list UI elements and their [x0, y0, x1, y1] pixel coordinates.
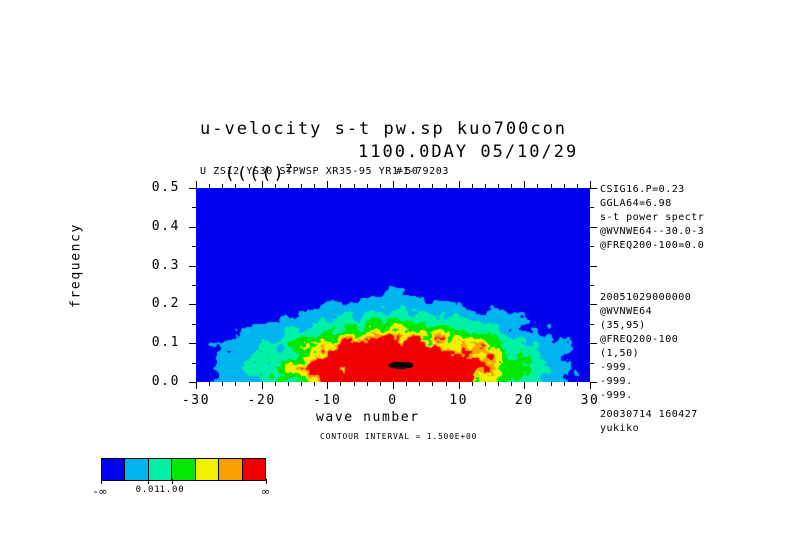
colorbar-cell — [195, 459, 218, 480]
x-axis-minor-tick-top — [380, 184, 381, 188]
x-axis-tick-label: 10 — [432, 393, 486, 408]
x-axis-minor-tick — [380, 382, 381, 386]
annotation-top-line: @FREQ200-100=0.0 — [600, 240, 704, 251]
y-axis-tick-label: 0.5 — [134, 180, 180, 195]
x-axis-minor-tick — [485, 382, 486, 386]
y-axis-minor-tick-right — [590, 207, 594, 208]
x-axis-minor-tick-top — [288, 184, 289, 188]
x-axis-minor-tick — [446, 382, 447, 386]
colorbar-cell — [242, 459, 265, 480]
x-axis-minor-tick-top — [472, 184, 473, 188]
x-axis-minor-tick — [209, 382, 210, 386]
x-axis-major-tick — [393, 382, 394, 389]
y-axis-minor-tick — [192, 363, 196, 364]
y-axis-minor-tick-right — [590, 285, 594, 286]
x-axis-minor-tick — [564, 382, 565, 386]
x-axis-minor-tick — [406, 382, 407, 386]
plot-description: U ZS12 YS30 STPWSP XR35-95 YR1-50 — [200, 166, 418, 177]
y-axis-minor-tick — [192, 246, 196, 247]
y-axis-major-tick — [189, 304, 196, 305]
annotation-mid-line: -999. — [600, 390, 633, 401]
colorbar-cell — [124, 459, 147, 480]
contour-interval-note: CONTOUR INTERVAL = 1.500E+00 — [320, 432, 477, 441]
x-axis-minor-tick-top — [551, 184, 552, 188]
colorbar-cell — [148, 459, 171, 480]
y-axis-minor-tick — [192, 207, 196, 208]
x-axis-minor-tick-top — [537, 184, 538, 188]
x-axis-minor-tick-top — [275, 184, 276, 188]
x-axis-minor-tick-top — [498, 184, 499, 188]
annotation-mid-line: -999. — [600, 362, 633, 373]
y-axis-major-tick-right — [590, 343, 597, 344]
x-axis-tick-label: -10 — [300, 393, 354, 408]
colorbar-label: 1.00 — [147, 485, 197, 495]
x-axis-minor-tick-top — [301, 184, 302, 188]
plot-title: u-velocity s-t pw.sp kuo700con — [200, 119, 567, 139]
colorbar-tick — [101, 479, 102, 484]
x-axis-major-tick-top — [524, 181, 525, 188]
annotation-mid-line: @FREQ200-100 — [600, 334, 678, 345]
colorbar-label: -∞ — [76, 485, 126, 498]
plot-description-id: #1-79203 — [396, 166, 449, 177]
y-axis-major-tick — [189, 343, 196, 344]
annotation-mid-line: (35,95) — [600, 320, 646, 331]
x-axis-minor-tick — [354, 382, 355, 386]
x-axis-major-tick — [196, 382, 197, 389]
x-axis-label: wave number — [316, 410, 420, 425]
x-axis-minor-tick — [275, 382, 276, 386]
y-axis-major-tick — [189, 188, 196, 189]
x-axis-major-tick-top — [459, 181, 460, 188]
annotation-mid-line: -999. — [600, 376, 633, 387]
y-axis-label: frequency — [69, 176, 84, 356]
x-axis-minor-tick-top — [511, 184, 512, 188]
x-axis-minor-tick — [551, 382, 552, 386]
x-axis-minor-tick — [301, 382, 302, 386]
colorbar-tick — [266, 479, 267, 484]
y-axis-tick-label: 0.0 — [134, 374, 180, 389]
x-axis-major-tick-top — [393, 181, 394, 188]
annotation-mid-line: (1,50) — [600, 348, 639, 359]
x-axis-minor-tick — [498, 382, 499, 386]
colorbar-cell — [102, 459, 124, 480]
x-axis-major-tick-top — [590, 181, 591, 188]
x-axis-major-tick — [459, 382, 460, 389]
x-axis-minor-tick — [511, 382, 512, 386]
x-axis-minor-tick — [249, 382, 250, 386]
x-axis-minor-tick — [340, 382, 341, 386]
x-axis-minor-tick — [432, 382, 433, 386]
x-axis-minor-tick-top — [222, 184, 223, 188]
annotation-top-line: @WVNWE64--30.0-3 — [600, 226, 704, 237]
y-axis-major-tick-right — [590, 266, 597, 267]
colorbar — [101, 458, 266, 481]
annotation-top-line: s-t power spectr — [600, 212, 704, 223]
x-axis-minor-tick — [577, 382, 578, 386]
x-axis-major-tick — [590, 382, 591, 389]
y-axis-minor-tick — [192, 285, 196, 286]
annotation-mid-line: @WVNWE64 — [600, 306, 652, 317]
x-axis-tick-label: 20 — [497, 393, 551, 408]
annotation-bottom-line: 20030714 160427 — [600, 409, 698, 420]
plot-subtitle-time: 1100.0DAY 05/10/29 — [358, 142, 578, 162]
colorbar-tick — [148, 479, 149, 484]
x-axis-minor-tick — [367, 382, 368, 386]
y-axis-minor-tick — [192, 324, 196, 325]
x-axis-tick-label: -30 — [169, 393, 223, 408]
y-axis-tick-label: 0.1 — [134, 335, 180, 350]
annotation-top-line: GGLA64=6.98 — [600, 198, 672, 209]
contour-field-canvas — [196, 188, 590, 382]
x-axis-minor-tick — [314, 382, 315, 386]
x-axis-minor-tick — [288, 382, 289, 386]
y-axis-major-tick-right — [590, 227, 597, 228]
x-axis-minor-tick-top — [419, 184, 420, 188]
x-axis-minor-tick-top — [235, 184, 236, 188]
colorbar-label: ∞ — [241, 485, 291, 498]
y-axis-major-tick — [189, 266, 196, 267]
x-axis-minor-tick-top — [209, 184, 210, 188]
x-axis-minor-tick-top — [564, 184, 565, 188]
x-axis-minor-tick-top — [249, 184, 250, 188]
x-axis-minor-tick-top — [446, 184, 447, 188]
contour-plot-area — [196, 188, 590, 382]
x-axis-tick-label: -20 — [235, 393, 289, 408]
x-axis-minor-tick-top — [354, 184, 355, 188]
y-axis-major-tick-right — [590, 382, 597, 383]
x-axis-minor-tick — [472, 382, 473, 386]
colorbar-cell — [171, 459, 194, 480]
x-axis-major-tick — [327, 382, 328, 389]
annotation-mid-line: 20051029000000 — [600, 292, 691, 303]
y-axis-major-tick — [189, 227, 196, 228]
x-axis-minor-tick-top — [485, 184, 486, 188]
x-axis-minor-tick — [222, 382, 223, 386]
y-axis-major-tick-right — [590, 188, 597, 189]
x-axis-minor-tick-top — [432, 184, 433, 188]
y-axis-minor-tick-right — [590, 246, 594, 247]
annotation-bottom-line: yukiko — [600, 423, 639, 434]
colorbar-tick — [172, 479, 173, 484]
y-axis-tick-label: 0.2 — [134, 296, 180, 311]
annotation-top-line: CSIG16.P=0.23 — [600, 184, 685, 195]
x-axis-major-tick — [524, 382, 525, 389]
y-axis-major-tick-right — [590, 304, 597, 305]
y-axis-tick-label: 0.4 — [134, 219, 180, 234]
x-axis-minor-tick-top — [340, 184, 341, 188]
x-axis-minor-tick — [537, 382, 538, 386]
x-axis-minor-tick-top — [314, 184, 315, 188]
y-axis-minor-tick-right — [590, 363, 594, 364]
x-axis-tick-label: 0 — [366, 393, 420, 408]
x-axis-minor-tick — [419, 382, 420, 386]
y-axis-tick-label: 0.3 — [134, 258, 180, 273]
y-axis-major-tick — [189, 382, 196, 383]
x-axis-major-tick-top — [196, 181, 197, 188]
x-axis-major-tick-top — [327, 181, 328, 188]
colorbar-cell — [218, 459, 241, 480]
x-axis-minor-tick — [235, 382, 236, 386]
x-axis-major-tick-top — [262, 181, 263, 188]
colorbar-ticks: -∞0.011.00∞ — [101, 479, 266, 484]
x-axis-minor-tick-top — [367, 184, 368, 188]
x-axis-minor-tick-top — [406, 184, 407, 188]
x-axis-minor-tick-top — [577, 184, 578, 188]
y-axis-minor-tick-right — [590, 324, 594, 325]
x-axis-major-tick — [262, 382, 263, 389]
